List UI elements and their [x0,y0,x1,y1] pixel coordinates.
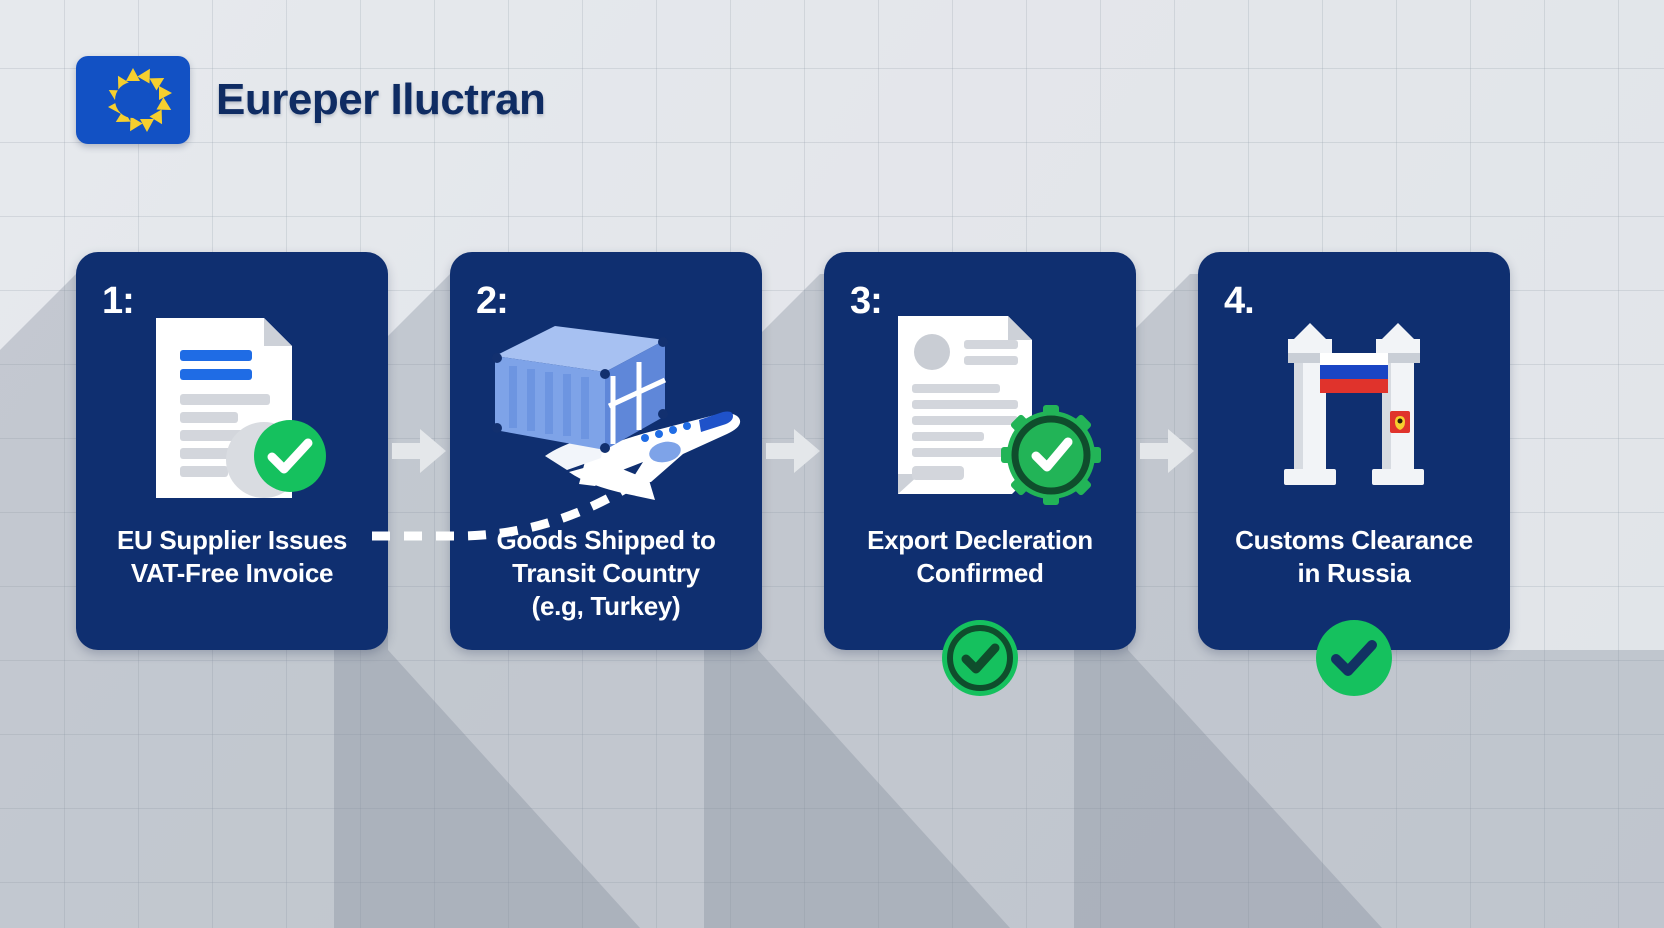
brand-header: Eureper Iluctran [76,56,545,144]
flow-step-card-2[interactable]: 2: [450,252,762,650]
step-1-art [76,308,388,508]
step-1-label: EU Supplier IssuesVAT-Free Invoice [90,524,374,590]
step-3-label-text: Export DeclerationConfirmed [867,525,1093,588]
step-2-label: Goods Shipped toTransit Country(e.g, Tur… [464,524,748,622]
step-3-label: Export DeclerationConfirmed [838,524,1122,590]
eu-sun-flag-icon [76,56,190,144]
step-3-art [824,308,1136,508]
shipping-container-airplane-icon [461,308,751,508]
customs-gate-russia-flag-icon [1254,313,1454,503]
step-2-label-text: Goods Shipped toTransit Country(e.g, Tur… [496,525,715,621]
connector-1 [388,252,450,650]
flow-step-card-3[interactable]: 3: [824,252,1136,650]
flow-step-card-4[interactable]: 4. [1198,252,1510,650]
green-check-circle-icon [1314,618,1394,698]
infographic-canvas: Eureper Iluctran 1: [0,0,1664,928]
green-check-circle-icon [252,418,328,494]
green-check-ring-icon [940,618,1020,698]
page-title: Eureper Iluctran [216,75,545,125]
shipping-container-icon [485,318,675,468]
flow-step-card-1[interactable]: 1: [76,252,388,650]
step-4-label: Customs Clearancein Russia [1212,524,1496,590]
connector-2 [762,252,824,650]
invoice-document-icon [152,314,312,502]
logo-core [115,82,151,118]
step-2-art [450,308,762,508]
declaration-document-seal-icon [880,312,1080,504]
arrow-right-icon [1140,426,1194,476]
process-flow: 1: [76,252,1510,650]
step-4-art [1198,308,1510,508]
arrow-right-icon [392,426,446,476]
arrow-right-icon [766,426,820,476]
green-seal-check-icon [1000,404,1102,506]
step-4-label-text: Customs Clearancein Russia [1235,525,1473,588]
step-1-label-text: EU Supplier IssuesVAT-Free Invoice [117,525,347,588]
connector-3 [1136,252,1198,650]
